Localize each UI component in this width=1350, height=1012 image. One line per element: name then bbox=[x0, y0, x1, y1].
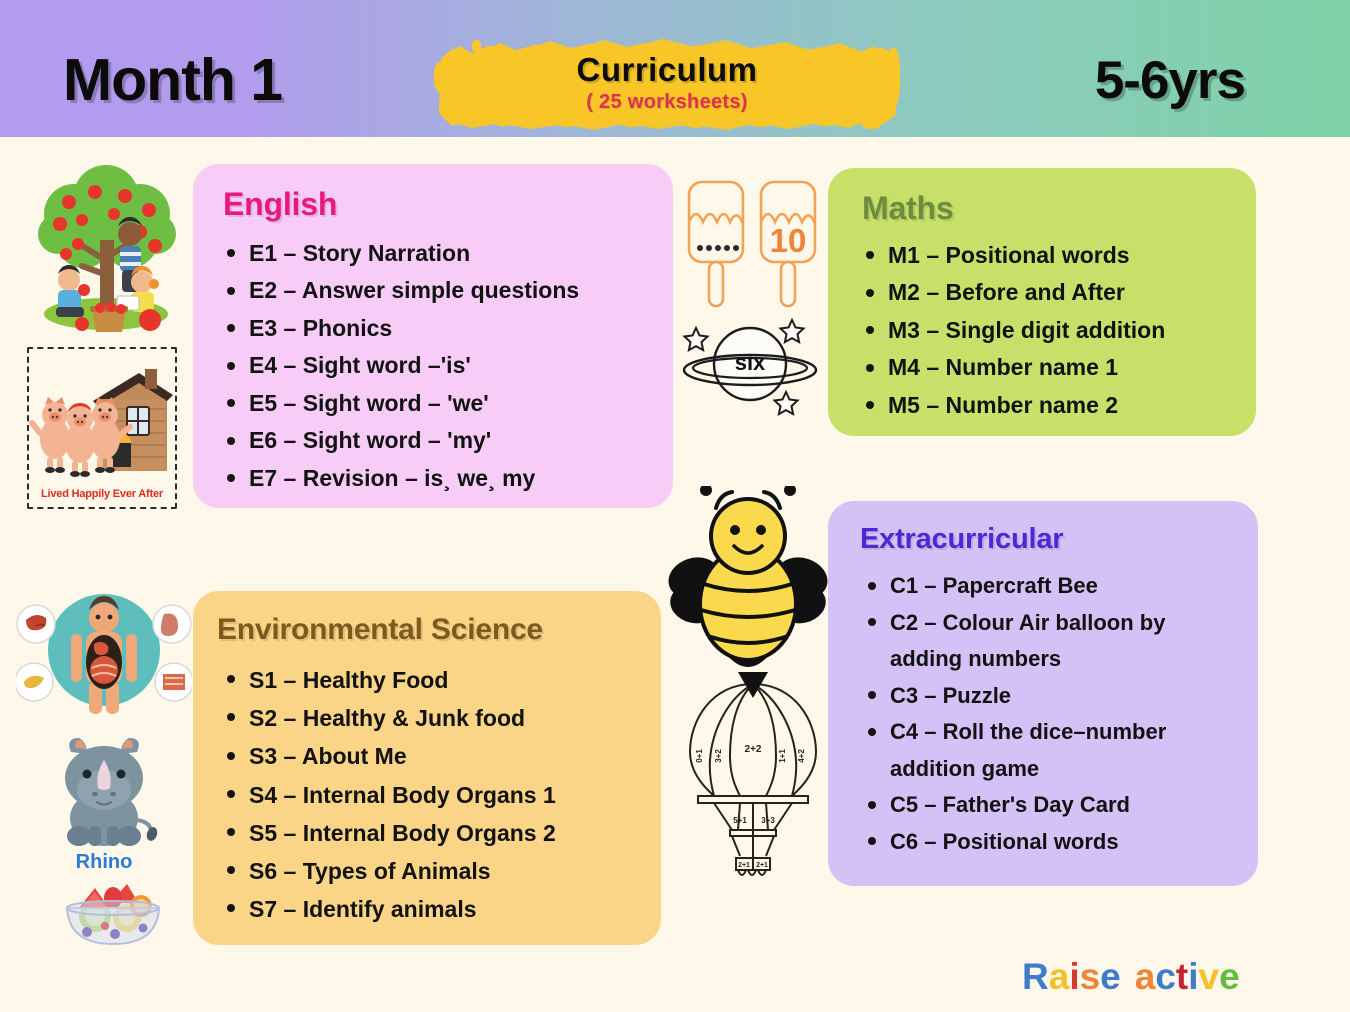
list-item: E1 – Story Narration bbox=[223, 235, 647, 272]
card-extracurricular-title: Extracurricular bbox=[860, 523, 1232, 556]
balloon-sum: 5+1 bbox=[733, 816, 747, 825]
list-item: E7 – Revision – is¸ we¸ my bbox=[223, 460, 647, 497]
banner-title: Curriculum bbox=[576, 51, 757, 89]
card-english: English E1 – Story Narration E2 – Answer… bbox=[193, 164, 673, 508]
list-item: S5 – Internal Body Organs 2 bbox=[217, 814, 635, 852]
list-item: M4 – Number name 1 bbox=[862, 349, 1230, 386]
popsicle-dots bbox=[697, 245, 739, 251]
card-extracurricular-list: C1 – Papercraft Bee C2 – Colour Air ball… bbox=[860, 568, 1232, 860]
balloon-sum: 4+2 bbox=[797, 749, 806, 763]
logo-letter: i bbox=[1188, 958, 1198, 995]
card-maths-list: M1 – Positional words M2 – Before and Af… bbox=[862, 237, 1230, 424]
list-item: E4 – Sight word –'is' bbox=[223, 347, 647, 384]
logo-letter: a bbox=[1135, 958, 1156, 995]
list-item: S6 – Types of Animals bbox=[217, 852, 635, 890]
card-extracurricular: Extracurricular C1 – Papercraft Bee C2 –… bbox=[828, 501, 1258, 886]
banner-subtitle: ( 25 worksheets) bbox=[586, 91, 748, 114]
popsicle-number: 10 bbox=[770, 222, 807, 259]
list-item: M3 – Single digit addition bbox=[862, 312, 1230, 349]
card-maths-title: Maths bbox=[862, 190, 1230, 227]
curriculum-banner: Curriculum ( 25 worksheets) bbox=[432, 28, 902, 136]
logo-letter: v bbox=[1199, 958, 1220, 995]
list-item: C3 – Puzzle bbox=[860, 678, 1232, 715]
logo-letter: t bbox=[1176, 958, 1188, 995]
logo-word-raise: Raise bbox=[1022, 958, 1121, 995]
list-item: C4 – Roll the dice–number addition game bbox=[860, 714, 1232, 787]
raise-active-logo: Raise active bbox=[1022, 958, 1240, 995]
logo-letter: c bbox=[1155, 958, 1176, 995]
list-item: C5 – Father's Day Card bbox=[860, 787, 1232, 824]
logo-letter: e bbox=[1219, 958, 1240, 995]
list-item: S2 – Healthy & Junk food bbox=[217, 699, 635, 737]
list-item: E5 – Sight word – 'we' bbox=[223, 385, 647, 422]
list-item: S7 – Identify animals bbox=[217, 890, 635, 928]
balloon-sum: 1+1 bbox=[778, 749, 787, 763]
balloon-sum: 3+2 bbox=[714, 749, 723, 763]
list-item: E3 – Phonics bbox=[223, 310, 647, 347]
card-science-list: S1 – Healthy Food S2 – Healthy & Junk fo… bbox=[217, 661, 635, 928]
logo-letter: i bbox=[1069, 958, 1079, 995]
list-item: C6 – Positional words bbox=[860, 824, 1232, 861]
apple-basket bbox=[90, 302, 128, 332]
balloon-sum: 3+3 bbox=[761, 816, 775, 825]
age-range-title: 5-6yrs bbox=[1095, 50, 1245, 111]
list-item: C2 – Colour Air balloon by adding number… bbox=[860, 605, 1232, 678]
card-english-title: English bbox=[223, 186, 647, 223]
logo-letter: e bbox=[1100, 958, 1121, 995]
bee-icon bbox=[668, 486, 828, 668]
balloon-sum: 2+2 bbox=[745, 744, 762, 755]
pigs-caption: Lived Happily Ever After bbox=[27, 488, 177, 500]
rhino-icon: Rhino bbox=[33, 732, 175, 874]
card-science-title: Environmental Science bbox=[217, 613, 635, 647]
card-maths: Maths M1 – Positional words M2 – Before … bbox=[828, 168, 1256, 436]
list-item: E6 – Sight word – 'my' bbox=[223, 422, 647, 459]
balloon-sum: 0+1 bbox=[695, 749, 704, 763]
list-item: M1 – Positional words bbox=[862, 237, 1230, 274]
month-title: Month 1 bbox=[63, 46, 282, 114]
rhino-caption: Rhino bbox=[33, 851, 175, 874]
card-environmental-science: Environmental Science S1 – Healthy Food … bbox=[193, 591, 661, 945]
list-item: S4 – Internal Body Organs 1 bbox=[217, 776, 635, 814]
logo-letter: s bbox=[1080, 958, 1101, 995]
list-item: M2 – Before and After bbox=[862, 274, 1230, 311]
logo-letter: a bbox=[1049, 958, 1070, 995]
hot-air-balloon-icon: 0+1 3+2 2+2 1+1 4+2 5+1 3+3 2+1 2+1 bbox=[684, 672, 822, 882]
logo-letter: R bbox=[1022, 958, 1049, 995]
list-item: E2 – Answer simple questions bbox=[223, 272, 647, 309]
list-item: S1 – Healthy Food bbox=[217, 661, 635, 699]
list-item: M5 – Number name 2 bbox=[862, 387, 1230, 424]
curriculum-poster: Month 1 Curriculum ( 25 worksheets) 5-6y… bbox=[0, 0, 1350, 1012]
three-pigs-icon: Lived Happily Ever After bbox=[27, 347, 177, 509]
logo-word-active: active bbox=[1135, 958, 1240, 995]
balloon-sum: 2+1 bbox=[738, 862, 750, 869]
fruit-bowl-icon bbox=[57, 872, 169, 950]
saturn-planet-icon: six bbox=[676, 312, 824, 422]
planet-label: six bbox=[735, 350, 766, 375]
poster-header: Month 1 Curriculum ( 25 worksheets) 5-6y… bbox=[0, 0, 1350, 137]
list-item: S3 – About Me bbox=[217, 737, 635, 775]
body-organs-icon bbox=[16, 586, 192, 716]
popsicle-counting-icon: 10 bbox=[683, 176, 823, 313]
list-item: C1 – Papercraft Bee bbox=[860, 568, 1232, 605]
card-english-list: E1 – Story Narration E2 – Answer simple … bbox=[223, 235, 647, 497]
balloon-sum: 2+1 bbox=[756, 862, 768, 869]
apple-tree-icon bbox=[22, 162, 190, 337]
